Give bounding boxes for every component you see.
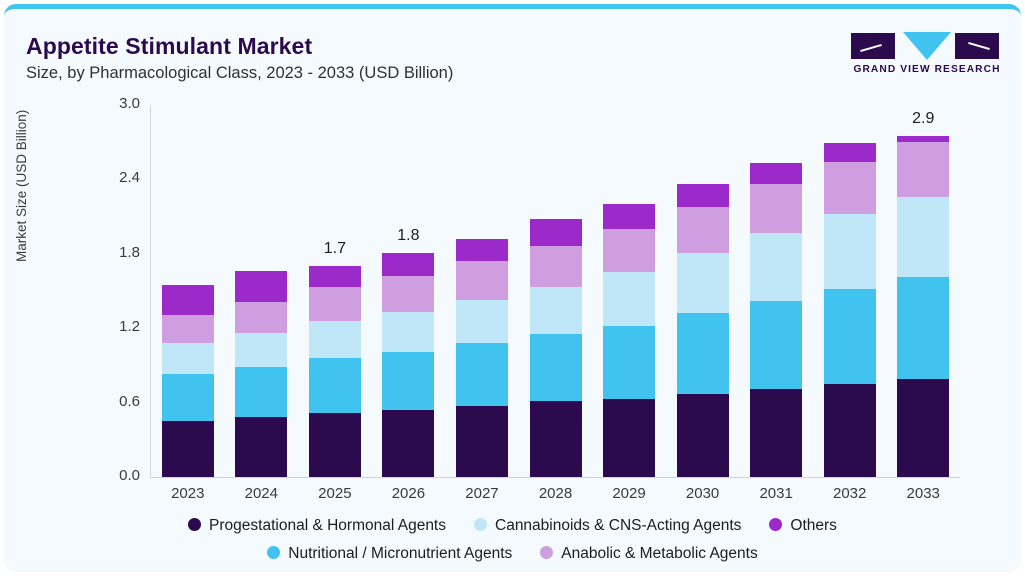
table-row[interactable] [824, 143, 876, 477]
logo-marks [851, 31, 1003, 61]
bar-segment[interactable] [677, 253, 729, 314]
y-axis-tick-label: 2.4 [100, 169, 140, 186]
x-axis-tick-label: 2032 [820, 485, 880, 502]
y-axis-label: Market Size (USD Billion) [14, 110, 29, 262]
legend-color-swatch-icon [267, 546, 280, 559]
bar-segment[interactable] [530, 334, 582, 401]
x-axis-tick-label: 2030 [673, 485, 733, 502]
bar-segment[interactable] [824, 214, 876, 288]
chart-plot-area: Market Size (USD Billion) 0.00.61.21.82.… [4, 87, 1021, 507]
bar-segment[interactable] [603, 326, 655, 399]
bar-segment[interactable] [824, 384, 876, 477]
chart-legend: Progestational & Hormonal AgentsCannabin… [4, 509, 1021, 571]
logo-left-block-icon [851, 33, 895, 59]
legend-item-label: Cannabinoids & CNS-Acting Agents [495, 517, 741, 534]
table-row[interactable] [456, 239, 508, 477]
legend-color-swatch-icon [474, 518, 487, 531]
legend-color-swatch-icon [540, 546, 553, 559]
bar-segment[interactable] [382, 410, 434, 477]
bar-value-label: 2.9 [897, 110, 949, 128]
y-axis-tick-label: 0.6 [100, 393, 140, 410]
bar-segment[interactable] [530, 219, 582, 246]
table-row[interactable] [235, 271, 287, 477]
x-axis-tick-label: 2028 [526, 485, 586, 502]
table-row[interactable] [382, 253, 434, 477]
legend-color-swatch-icon [769, 518, 782, 531]
x-axis-tick-label: 2031 [746, 485, 806, 502]
bar-segment[interactable] [750, 389, 802, 477]
bar-segment[interactable] [309, 266, 361, 287]
bar-segment[interactable] [897, 379, 949, 477]
bar-segment[interactable] [897, 142, 949, 197]
bar-segment[interactable] [897, 277, 949, 379]
bar-segment[interactable] [382, 312, 434, 352]
x-axis-tick-label: 2023 [158, 485, 218, 502]
x-axis-tick-label: 2024 [231, 485, 291, 502]
table-row[interactable] [162, 285, 214, 477]
bar-segment[interactable] [382, 352, 434, 410]
bar-segment[interactable] [456, 300, 508, 343]
bar-segment[interactable] [456, 343, 508, 406]
bar-segment[interactable] [309, 358, 361, 413]
stacked-bars: 1.71.82.9 [151, 105, 960, 477]
x-axis-tick-label: 2026 [378, 485, 438, 502]
page-subtitle: Size, by Pharmacological Class, 2023 - 2… [26, 64, 453, 83]
bar-segment[interactable] [162, 315, 214, 344]
bar-segment[interactable] [750, 233, 802, 301]
legend-item-label: Anabolic & Metabolic Agents [561, 545, 757, 562]
page-title: Appetite Stimulant Market [26, 33, 312, 60]
bar-segment[interactable] [382, 276, 434, 312]
bar-segment[interactable] [530, 246, 582, 287]
bar-segment[interactable] [603, 229, 655, 272]
bar-segment[interactable] [750, 184, 802, 232]
y-axis-tick-label: 0.0 [100, 467, 140, 484]
legend-item[interactable]: Others [769, 517, 837, 535]
legend-item-label: Progestational & Hormonal Agents [209, 517, 446, 534]
bar-segment[interactable] [162, 285, 214, 315]
bar-segment[interactable] [603, 272, 655, 325]
logo-triangle-icon [903, 32, 951, 60]
bar-segment[interactable] [309, 413, 361, 477]
legend-row-2: Nutritional / Micronutrient AgentsAnabol… [4, 545, 1021, 563]
y-axis-tick-label: 1.2 [100, 318, 140, 335]
bar-segment[interactable] [456, 239, 508, 261]
legend-item[interactable]: Progestational & Hormonal Agents [188, 517, 446, 535]
bar-segment[interactable] [235, 367, 287, 418]
bar-segment[interactable] [162, 421, 214, 477]
bar-segment[interactable] [382, 253, 434, 277]
y-axis-tick-label: 1.8 [100, 244, 140, 261]
legend-item-label: Nutritional / Micronutrient Agents [288, 545, 512, 562]
bar-segment[interactable] [897, 197, 949, 278]
bar-segment[interactable] [750, 301, 802, 389]
bar-segment[interactable] [677, 394, 729, 477]
bar-segment[interactable] [162, 374, 214, 421]
bar-value-label: 1.7 [309, 240, 361, 258]
bar-segment[interactable] [235, 302, 287, 333]
bar-segment[interactable] [824, 162, 876, 214]
bar-segment[interactable] [162, 343, 214, 374]
bar-segment[interactable] [677, 207, 729, 253]
bar-segment[interactable] [309, 321, 361, 358]
legend-item-label: Others [790, 517, 837, 534]
legend-item[interactable]: Cannabinoids & CNS-Acting Agents [474, 517, 741, 535]
bar-segment[interactable] [530, 401, 582, 477]
legend-item[interactable]: Nutritional / Micronutrient Agents [267, 545, 512, 563]
bar-segment[interactable] [677, 184, 729, 206]
legend-item[interactable]: Anabolic & Metabolic Agents [540, 545, 757, 563]
logo-brand-text: GRAND VIEW RESEARCH [851, 64, 1003, 75]
y-axis-tick-label: 3.0 [100, 95, 140, 112]
x-axis-tick-label: 2029 [599, 485, 659, 502]
table-row[interactable] [677, 184, 729, 477]
legend-row-1: Progestational & Hormonal AgentsCannabin… [4, 517, 1021, 535]
x-axis-tick-label: 2027 [452, 485, 512, 502]
x-axis-tick-label: 2033 [893, 485, 953, 502]
x-axis-tick-label: 2025 [305, 485, 365, 502]
bar-segment[interactable] [456, 261, 508, 299]
bar-segment[interactable] [750, 163, 802, 184]
bar-segment[interactable] [824, 289, 876, 384]
bar-segment[interactable] [603, 204, 655, 229]
bar-segment[interactable] [235, 333, 287, 366]
logo-right-block-icon [955, 33, 999, 59]
x-axis-line [150, 477, 960, 478]
bar-segment[interactable] [824, 143, 876, 162]
chart-card: Appetite Stimulant Market Size, by Pharm… [4, 4, 1021, 572]
table-row[interactable] [603, 204, 655, 477]
table-row[interactable] [309, 266, 361, 477]
legend-color-swatch-icon [188, 518, 201, 531]
bar-segment[interactable] [603, 399, 655, 477]
grand-view-research-logo: GRAND VIEW RESEARCH [851, 31, 1003, 83]
table-row[interactable] [897, 136, 949, 477]
bar-segment[interactable] [235, 271, 287, 302]
bar-segment[interactable] [235, 417, 287, 477]
table-row[interactable] [750, 163, 802, 477]
bar-segment[interactable] [677, 313, 729, 394]
bar-segment[interactable] [309, 287, 361, 320]
table-row[interactable] [530, 219, 582, 477]
bar-value-label: 1.8 [382, 227, 434, 245]
chart-header: Appetite Stimulant Market Size, by Pharm… [4, 9, 1021, 87]
bar-segment[interactable] [530, 287, 582, 334]
bar-segment[interactable] [456, 406, 508, 477]
